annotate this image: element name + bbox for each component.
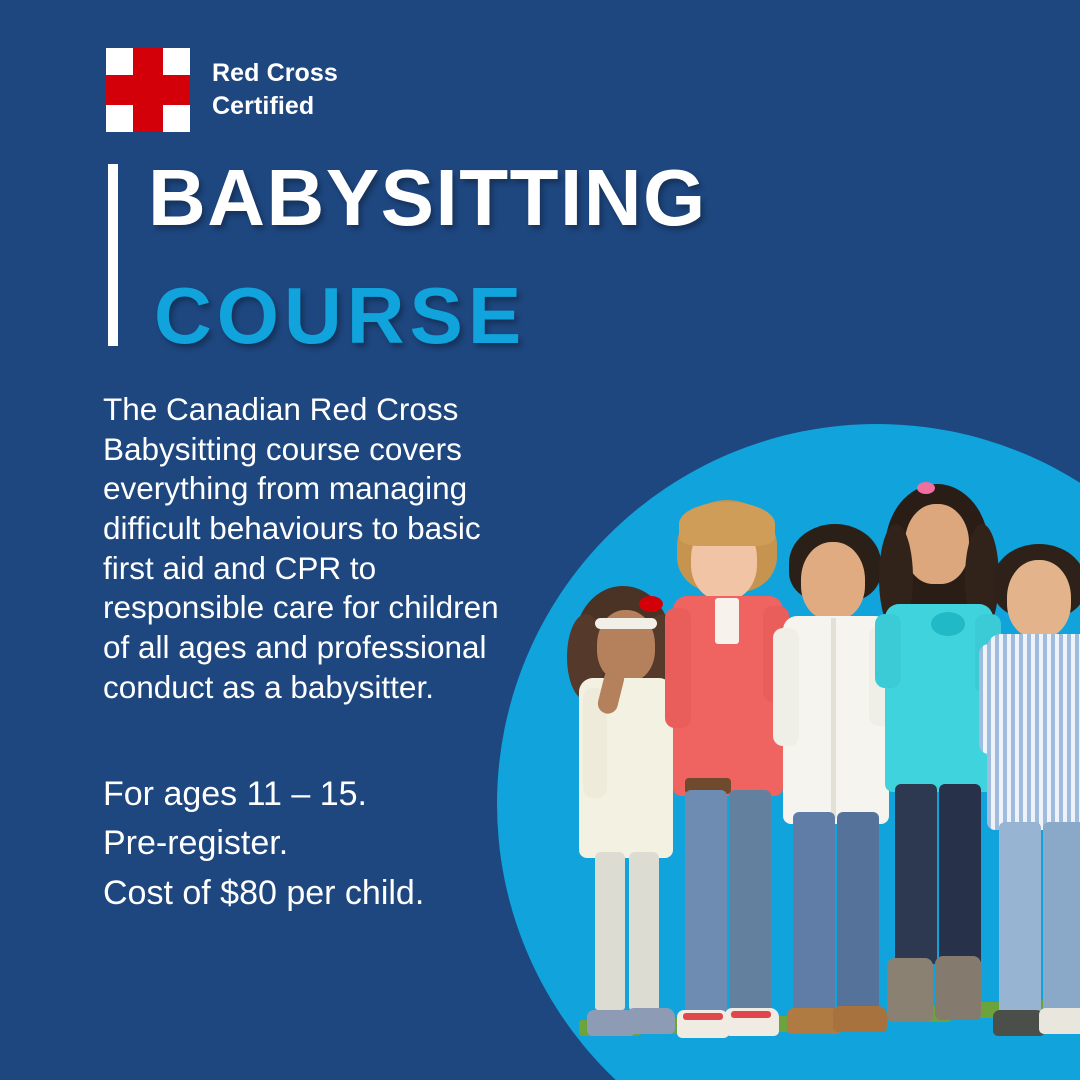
red-cross-logo: Red Cross Certified <box>106 48 338 132</box>
logo-label: Red Cross Certified <box>212 57 338 123</box>
course-description: The Canadian Red Cross Babysitting cours… <box>103 390 528 708</box>
child-boy-red-polo <box>663 478 791 1038</box>
headline-accent-bar <box>108 164 118 346</box>
child-boy-pinstripe <box>979 498 1080 1038</box>
title-line-1: BABYSITTING <box>148 158 908 238</box>
red-cross-icon <box>106 48 190 132</box>
poster-canvas: Red Cross Certified BABYSITTING COURSE T… <box>0 0 1080 1080</box>
page-title: BABYSITTING COURSE <box>148 158 908 356</box>
course-details: For ages 11 – 15. Pre-register. Cost of … <box>103 770 573 918</box>
title-line-2: COURSE <box>148 276 908 356</box>
children-photo <box>555 478 1080 1038</box>
